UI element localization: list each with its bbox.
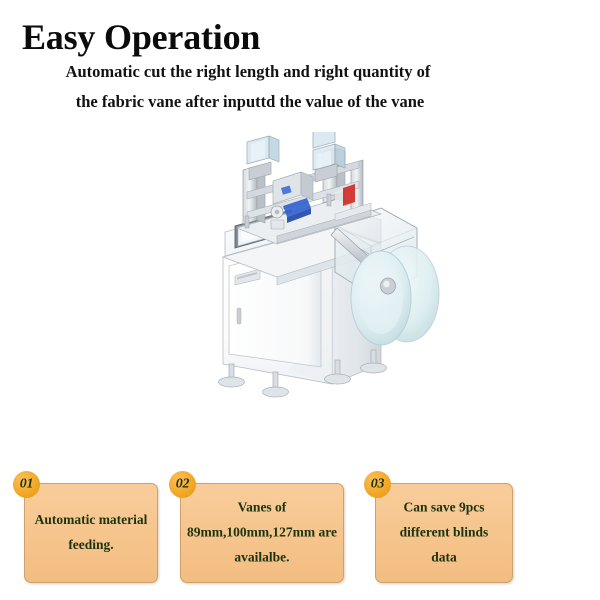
callout-badge-02: 02 <box>169 471 196 498</box>
callout-line: Automatic material <box>29 508 153 533</box>
callout-line: Vanes of <box>185 496 339 521</box>
callout-badge-03: 03 <box>364 471 391 498</box>
callout-box-01[interactable]: 01 Automatic material feeding. <box>24 483 158 583</box>
callout-text-02: Vanes of 89mm,100mm,127mm are availalbe. <box>181 496 343 571</box>
callout-text-03: Can save 9pcs different blinds data <box>376 496 512 571</box>
poster-page: Easy Operation Automatic cut the right l… <box>0 0 600 600</box>
subtitle-line-1: Automatic cut the right length and right… <box>0 62 548 82</box>
callout-badge-number: 03 <box>364 476 391 492</box>
callout-line: 89mm,100mm,127mm are <box>185 521 339 546</box>
callout-badge-01: 01 <box>13 471 40 498</box>
callout-line: feeding. <box>29 533 153 558</box>
callout-badge-number: 02 <box>169 476 196 492</box>
page-title: Easy Operation <box>22 19 260 57</box>
callout-line: availalbe. <box>185 545 339 570</box>
callout-line: data <box>380 545 508 570</box>
callout-line: Can save 9pcs <box>380 496 508 521</box>
callout-box-03[interactable]: 03 Can save 9pcs different blinds data <box>375 483 513 583</box>
subtitle-line-2: the fabric vane after inputtd the value … <box>0 92 550 112</box>
callout-line: different blinds <box>380 521 508 546</box>
machine-illustration <box>185 132 475 422</box>
callout-row: 01 Automatic material feeding. 02 Vanes … <box>0 470 600 595</box>
callout-badge-number: 01 <box>13 476 40 492</box>
callout-box-02[interactable]: 02 Vanes of 89mm,100mm,127mm are availal… <box>180 483 344 583</box>
callout-text-01: Automatic material feeding. <box>25 508 157 558</box>
